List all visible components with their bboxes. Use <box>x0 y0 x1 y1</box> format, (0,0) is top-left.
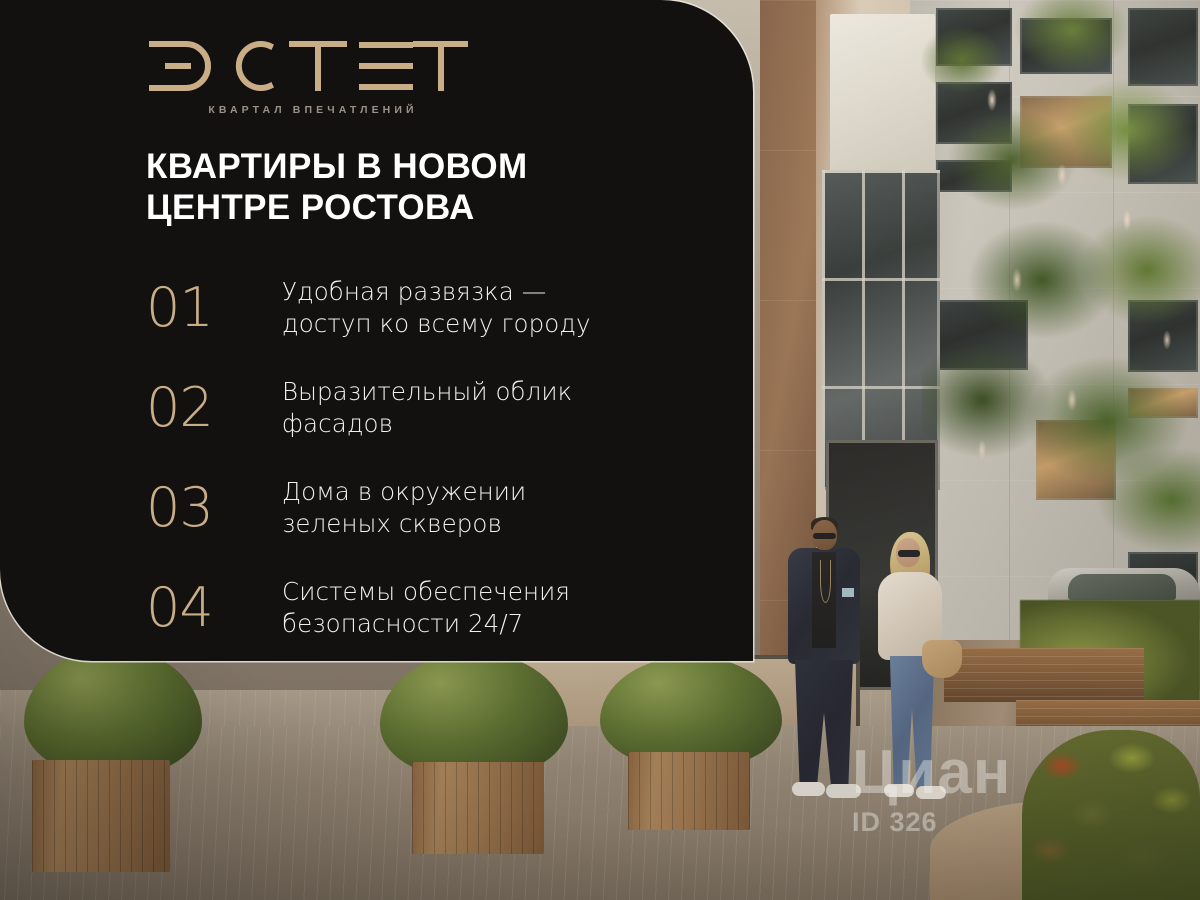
headline-line-1: КВАРТИРЫ В НОВОМ <box>146 146 706 187</box>
feature-text-line-2: доступ ко всему городу <box>282 308 591 340</box>
feature-text-line-1: Дома в окружении <box>282 476 526 508</box>
photo-planter <box>32 760 170 872</box>
brand-logo <box>148 36 468 96</box>
feature-number: 01 <box>146 281 282 335</box>
feature-list: 01 Удобная развязка — доступ ко всему го… <box>146 258 726 658</box>
list-item: 04 Системы обеспечения безопасности 24/7 <box>146 558 726 658</box>
list-item: 01 Удобная развязка — доступ ко всему го… <box>146 258 726 358</box>
feature-number: 03 <box>146 481 282 535</box>
feature-text: Дома в окружении зеленых скверов <box>282 476 526 540</box>
feature-text-line-1: Выразительный облик <box>282 376 572 408</box>
photo-car-window <box>1068 574 1176 600</box>
feature-text-line-2: фасадов <box>282 408 572 440</box>
photo-planter <box>412 762 544 854</box>
feature-text-line-2: безопасности 24/7 <box>282 608 570 640</box>
list-item: 03 Дома в окружении зеленых скверов <box>146 458 726 558</box>
feature-text: Выразительный облик фасадов <box>282 376 572 440</box>
photo-bench <box>944 648 1144 702</box>
brand-tagline: КВАРТАЛ ВПЕЧАТЛЕНИЙ <box>148 104 478 116</box>
photo-planter <box>628 752 750 830</box>
feature-text-line-2: зеленых скверов <box>282 508 526 540</box>
list-item: 02 Выразительный облик фасадов <box>146 358 726 458</box>
feature-number: 02 <box>146 381 282 435</box>
banner-stage: Циан ID 326 <box>0 0 1200 900</box>
photo-colourful-shrub <box>1022 730 1200 900</box>
feature-text-line-1: Системы обеспечения <box>282 576 570 608</box>
photo-white-panel <box>830 14 935 179</box>
info-panel: КВАРТАЛ ВПЕЧАТЛЕНИЙ КВАРТИРЫ В НОВОМ ЦЕН… <box>0 0 753 661</box>
feature-text: Удобная развязка — доступ ко всему город… <box>282 276 591 340</box>
feature-text-line-1: Удобная развязка — <box>282 276 591 308</box>
page-title: КВАРТИРЫ В НОВОМ ЦЕНТРЕ РОСТОВА <box>146 146 706 229</box>
photo-tree-blossoms <box>922 0 1200 600</box>
feature-number: 04 <box>146 581 282 635</box>
headline-line-2: ЦЕНТРЕ РОСТОВА <box>146 187 706 228</box>
feature-text: Системы обеспечения безопасности 24/7 <box>282 576 570 640</box>
